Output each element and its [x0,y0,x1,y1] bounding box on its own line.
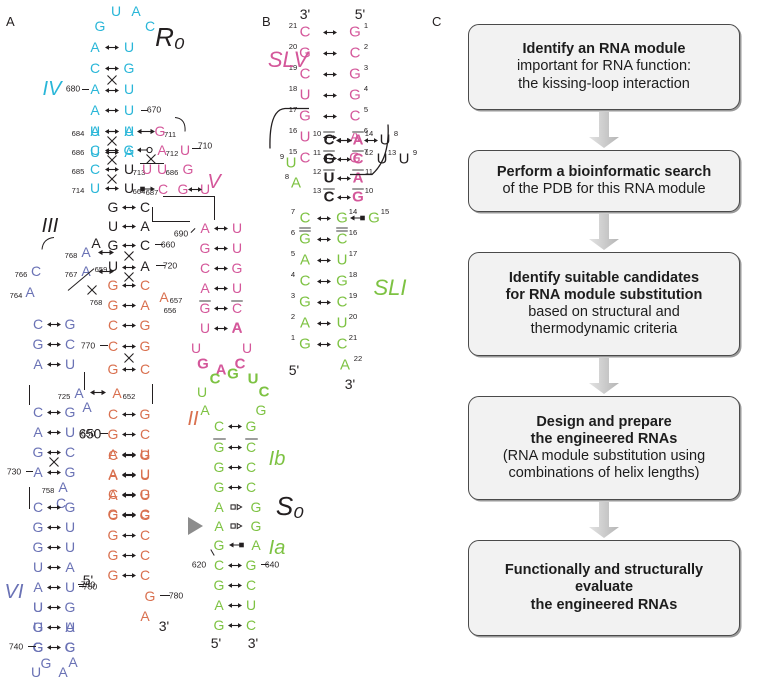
nucleotide-ii-right: C [140,568,150,582]
bp-ii [122,410,136,419]
bp-vi [47,408,61,417]
leader-640 [261,564,268,565]
nucleotide-vi-right: G [65,500,76,514]
nucleotide-sli-left: A [300,253,310,268]
hoogsteen-g14-g15 [350,214,366,223]
nucleotide-vi-right: A [65,560,74,574]
nucleotide-ia-a3: A [251,538,260,552]
residue-number-9: 9 [413,149,417,157]
position-number-768b: 768 [90,299,103,307]
bp-slv [323,112,337,121]
bp-v [214,264,228,273]
nucleotide-a725: A [74,386,83,400]
nucleotide-vi-left: C [33,405,43,419]
nucleotide-ia-g1: G [251,500,262,514]
nucleotide-g-ii2: G [108,298,119,312]
nucleotide-v-left: G [200,301,211,315]
nucleotide-vi-right: U [65,425,75,439]
bp-vi [47,583,61,592]
nucleotide-v-right: G [232,261,243,275]
bp-sli [317,214,331,223]
bp-v [214,244,228,253]
nucleotide-ii-right: U [140,488,150,502]
non-canonical-junction [107,156,118,165]
nucleotide-ia-a1: A [214,500,223,514]
bp-vi [47,320,61,329]
nucleotide-g15: G [368,211,380,226]
nucleotide-ii-left: C [108,508,118,522]
nucleotide-ii-right: G [140,448,151,462]
nucleotide-vi-left: C [33,500,43,514]
workflow-step-4-plain-2: combinations of helix lengths) [508,465,699,482]
label-five-prime-green: 5' [211,636,221,650]
nucleotide-sli-right: G [336,211,348,226]
workflow-step-5-bold-2: evaluate [575,579,633,596]
junction-bracket [140,163,164,164]
nucleotide-kl-green: C [324,133,335,148]
nucleotide-vi-left: U [33,600,43,614]
residue-number-10: 10 [365,187,373,195]
workflow-step-2-bold-1: Perform a bioinformatic search [497,164,711,181]
nucleotide-u9-green: U [286,156,297,171]
bp-vi [47,603,61,612]
domain-label-ia: Ia [269,538,286,558]
nucleotide-junction-right: A [124,124,133,138]
non-canonical-ii [124,354,135,363]
bp-ii [122,571,136,580]
position-number-684: 684 [72,130,85,138]
hoogsteen-664 [139,185,155,194]
nucleotide-loop-vi-a: A [68,655,77,669]
position-number-730: 730 [7,468,21,477]
nucleotide-u710: U [180,143,190,157]
workflow-step-1-plain-1: important for RNA function: [517,58,691,75]
curved-connector-2 [40,239,56,248]
nucleotide-v-left: C [200,261,210,275]
nucleotide-vi-left: C [33,317,43,331]
nucleotide-c766: C [31,264,41,278]
nucleotide-ib-right: C [246,460,256,474]
residue-number-20: 20 [349,313,357,321]
nucleotide-g-ii: G [108,278,119,292]
workflow-step-3[interactable]: Identify suitable candidatesfor RNA modu… [468,252,740,356]
nucleotide-a-ii2: A [140,298,149,312]
nucleotide-vi-left: A [33,425,42,439]
position-number-780: 780 [169,592,183,601]
position-number-656: 656 [164,307,177,315]
bp-v [214,224,228,233]
workflow-step-2-plain-1: of the PDB for this RNA module [502,181,705,198]
bp-vi [47,543,61,552]
nucleotide-sli-left: C [300,274,311,289]
leader-650 [100,433,108,434]
bp-ii [122,451,136,460]
label-five-prime-sli: 5' [289,363,299,377]
residue-number-1: 1 [364,22,368,30]
nucleotide-sli-left: A [300,316,310,331]
nucleotide-ii-right: G [140,508,151,522]
bp-ii [122,430,136,439]
workflow-step-5-bold-1: Functionally and structurally [505,562,703,579]
bp-sli [317,319,331,328]
nucleotide-a22: A [340,358,350,373]
leader-690 [191,228,196,233]
domain-label-iv: IV [43,79,62,99]
nucleotide-ia-right: U [246,598,256,612]
nucleotide-g687: G [178,182,189,196]
nucleotide-loop-c: C [145,19,155,33]
workflow-arrow-3 [588,358,620,394]
nucleotide-vi-left: C [33,640,43,654]
workflow-step-3-plain-1: based on structural and [528,304,680,321]
bp-ib [228,483,242,492]
nucleotide-sli-left: G [299,232,311,247]
nucleotide-vi-right: C [65,445,75,459]
position-number-680: 680 [66,85,80,94]
workflow-step-4-bold-2: the engineered RNAs [531,431,678,448]
bp-iii [122,241,136,250]
nucleotide-vi-right: C [65,337,75,351]
nucleotide-sli-right: U [337,253,348,268]
nucleotide-ib-left: G [214,440,225,454]
nucleotide-vi-right: U [65,357,75,371]
position-number-711: 711 [164,131,176,139]
long-range-768-659 [98,248,114,257]
nucleotide-junction-left: C [90,162,100,176]
nucleotide-ia-left: A [214,598,223,612]
residue-number-21: 21 [289,22,297,30]
sheared-ia-1 [229,503,245,512]
residue-number-13: 13 [313,187,321,195]
nucleotide-kl-pink: G [352,190,364,205]
nucleotide-v-loop-a: A [232,321,243,336]
workflow-step-1-plain-2: the kissing-loop interaction [518,76,690,93]
workflow-step-1-bold-1: Identify an RNA module [523,41,686,58]
bp-ia [228,561,242,570]
non-canonical-junction [107,175,118,184]
nucleotide-vi-left: G [33,540,44,554]
bp-vi [47,468,61,477]
nucleotide-vi-right: U [65,540,75,554]
base-pair-junction [105,127,119,136]
nucleotide-g-free: G [183,162,194,176]
position-number-690: 690 [174,230,188,239]
bp-ii [122,321,136,330]
residue-number-6: 6 [291,229,295,237]
residue-number-3: 3 [291,292,295,300]
position-number-725: 725 [58,393,71,401]
residue-number-10: 10 [313,130,321,138]
bp-ii [122,301,136,310]
nucleotide-v-right: C [232,301,242,315]
workflow-step-2[interactable]: Perform a bioinformatic searchof the PDB… [468,150,740,212]
bp-vi [47,563,61,572]
nucleotide-ii-left: G [108,548,119,562]
nucleotide-loop-u: U [111,4,121,18]
nucleotide-ii-right: G [140,339,151,353]
nucleotide-ii-right: C [140,362,150,376]
nucleotide-v-left: G [200,241,211,255]
nucleotide-iii-2r: A [140,219,149,233]
vertical-tick-left [84,372,85,390]
nucleotide-u9: U [399,152,410,167]
bp-vi [47,340,61,349]
nucleotide-vi-right: G [65,317,76,331]
domain-label-iii: III [42,216,59,236]
nucleotide-ii-left: C [108,407,118,421]
position-number-758: 758 [42,487,55,495]
nucleotide-junction-left: C [90,143,100,157]
v-bracket-left [152,207,153,222]
bp-vi [47,360,61,369]
nucleotide-junction-right: G [124,143,135,157]
nucleotide-vi-left: G [33,337,44,351]
position-number-710: 710 [198,142,212,151]
workflow-step-3-plain-2: thermodynamic criteria [531,321,678,338]
nucleotide-ii-left: A [108,468,117,482]
nucleotide-ii-right: G [140,407,151,421]
nucleotide-vi-left: A [33,465,42,479]
bp-vi [47,643,61,652]
bp-ia [228,621,242,630]
nucleotide-junction-left: U [90,181,100,195]
leader-line [141,110,148,111]
nucleotide-g780: G [145,589,156,603]
nucleotide-iv-left: A [90,82,99,96]
curved-connector [174,120,192,129]
nucleotide-sli-right: C [337,232,348,247]
bp-ii [122,531,136,540]
nucleotide-vi-left: G [33,620,44,634]
base-pair-junction [105,146,119,155]
nucleotide-ii-left: G [108,568,119,582]
residue-number-18: 18 [349,271,357,279]
nucleotide-slv-left: C [300,25,311,40]
position-number-740: 740 [9,643,23,652]
nucleotide-slv-right: G [349,88,361,103]
nucleotide-c664: C [158,182,168,196]
workflow-step-3-bold-1: Identify suitable candidates [509,270,699,287]
workflow-step-3-bold-2: for RNA module substitution [506,287,703,304]
nucleotide-vi-right: U [65,620,75,634]
base-pair-iv [105,43,119,52]
arrowhead-marker [188,517,203,535]
nucleotide-ib-loop-g2: G [256,403,267,417]
nucleotide-vi-right: G [65,465,76,479]
position-number-720: 720 [163,262,177,271]
position-number-657: 657 [170,297,183,305]
nucleotide-iii-3r: C [140,238,150,252]
figure-root: A B C UAGCAUCGAU680AU670AUUAIVR₀UA684CG6… [0,0,774,676]
domain-label-vi: VI [5,582,24,602]
nucleotide-iii-1r: C [140,200,150,214]
base-pair-junction [105,184,119,193]
nucleotide-sli-right: C [337,337,348,352]
position-number-766: 766 [15,271,28,279]
bp-ib [228,443,242,452]
residue-number-9-green: 9 [280,153,284,161]
nucleotide-ib-right: G [246,419,257,433]
nucleotide-iv-right: G [124,61,135,75]
nucleotide-kl-green: U [324,171,335,186]
leader-740 [28,646,36,647]
nucleotide-ii-right: G [140,318,151,332]
label-three-prime-slv: 3' [300,7,310,21]
position-number-652: 652 [123,393,136,401]
bp-slv [323,28,337,37]
bp-ib [228,422,242,431]
base-pair-iv [105,64,119,73]
nucleotide-ii-right: C [140,548,150,562]
nucleotide-vi-left: A [33,580,42,594]
residue-number-2: 2 [364,43,368,51]
bp-ii [122,551,136,560]
nucleotide-iii-2l: U [108,219,118,233]
nucleotide-iii-4r: A [140,259,149,273]
nucleotide-ia-left: G [214,578,225,592]
position-number-686: 686 [166,169,179,177]
workflow-step-5[interactable]: Functionally and structurallyevaluatethe… [468,540,740,636]
bp-v [214,304,228,313]
bp-vi [47,428,61,437]
residue-number-15: 15 [381,208,389,216]
bp-iii [122,222,136,231]
bp-slv [323,49,337,58]
nucleotide-a768: A [81,245,90,259]
leader-720 [156,265,165,266]
position-number-767: 767 [65,271,78,279]
position-number-670: 670 [147,106,161,115]
bp-sli [317,277,331,286]
nucleotide-slv-right: C [350,46,361,61]
residue-number-17: 17 [349,250,357,258]
nucleotide-vi-left: G [33,445,44,459]
base-pair-junction [105,165,119,174]
bp-sli [317,256,331,265]
nucleotide-sli-left: C [300,211,311,226]
position-number-750: 750 [83,583,97,592]
nucleotide-vi-right: G [65,640,76,654]
leader-770 [100,345,108,346]
workflow-arrow-1 [588,112,620,148]
leader-710 [192,148,201,149]
nucleotide-kl-green: C [324,190,335,205]
residue-number-21: 21 [349,334,357,342]
label-three-prime-sli: 3' [345,377,355,391]
nucleotide-v-left: A [200,221,209,235]
panel-letter-c: C [432,14,441,29]
nucleotide-v-left: A [200,281,209,295]
nucleotide-vi-right: U [65,520,75,534]
workflow-step-4-plain-1: (RNA module substitution using [503,448,705,465]
residue-number-8: 8 [394,130,398,138]
nucleotide-ii-left: A [108,488,117,502]
bp-ii [122,342,136,351]
bp-sli [317,235,331,244]
nucleotide-ib-loop-c: C [210,372,221,387]
position-number-620: 620 [192,561,206,570]
panel-letter-a: A [6,14,15,29]
position-number-660: 660 [161,241,175,250]
v-bracket-top [163,196,215,197]
nucleotide-ii-left: C [108,339,118,353]
nucleotide-ia-a2: A [214,519,223,533]
residue-number-11: 11 [313,149,321,157]
nucleotide-ib-loop-u2: U [197,385,207,399]
nucleotide-sli-left: G [299,337,311,352]
nucleotide-kl-green: G [323,152,335,167]
bp-ii [122,281,136,290]
residue-number-19: 19 [349,292,357,300]
nucleotide-v-right: U [232,241,242,255]
position-number-685: 685 [72,168,85,176]
nucleotide-ii-left: C [108,318,118,332]
position-number-712: 712 [166,150,179,158]
residue-number-22: 22 [354,355,362,363]
kissing-curve-left [265,124,311,133]
nucleotide-a8-green: A [291,176,301,191]
domain-label-ii: II [187,409,198,429]
bp-sli [317,340,331,349]
nucleotide-slv-left: U [300,88,311,103]
nucleotide-loop-a: A [131,4,140,18]
nucleotide-ia-g4: G [246,558,257,572]
label-three-prime-green: 3' [248,636,258,650]
domain-label-ib: Ib [269,449,286,469]
bp-vi [47,623,61,632]
nucleotide-iv-right: U [124,103,134,117]
bp-v-loop [214,324,228,333]
nucleotide-ii-left: C [108,448,118,462]
residue-number-5: 5 [291,250,295,258]
nucleotide-sli-left: G [299,295,311,310]
long-range-767-g [98,267,114,276]
position-number-640: 640 [265,561,279,570]
panel-letter-b: B [262,14,271,29]
nucleotide-c-ii: C [140,278,150,292]
nucleotide-sli-right: G [336,274,348,289]
nucleotide-ii-left: G [108,528,119,542]
bp-slv [323,91,337,100]
base-pair-iv [105,86,119,95]
nucleotide-slv-left: C [300,151,311,166]
nucleotide-vi-left: G [33,520,44,534]
workflow-arrow-4 [588,502,620,538]
nucleotide-ib-loop-c2: C [259,385,270,400]
residue-number-4: 4 [291,271,295,279]
v-bracket-bottom [152,221,190,222]
workflow-step-1[interactable]: Identify an RNA moduleimportant for RNA … [468,24,740,110]
nucleotide-v-right: U [232,221,242,235]
non-canonical-iii [124,252,135,261]
workflow-step-4-bold-1: Design and prepare [536,414,671,431]
label-slv: SLV [268,49,308,71]
nucleotide-ib-loop-a: A [200,403,209,417]
nucleotide-v-left: U [200,321,210,335]
residue-number-3: 3 [364,64,368,72]
long-range-725-652 [90,388,106,397]
nucleotide-v-loop-g: G [197,357,209,372]
nucleotide-iv-right: U [124,40,134,54]
label-s0: S₀ [276,493,304,519]
bp-iii [122,203,136,212]
workflow-step-4[interactable]: Design and preparethe engineered RNAs(RN… [468,396,740,500]
residue-number-12: 12 [313,168,321,176]
nucleotide-loop-g: G [95,19,106,33]
bp-ia [228,601,242,610]
nucleotide-v-loop-u: U [191,341,201,355]
bp-vi [47,523,61,532]
